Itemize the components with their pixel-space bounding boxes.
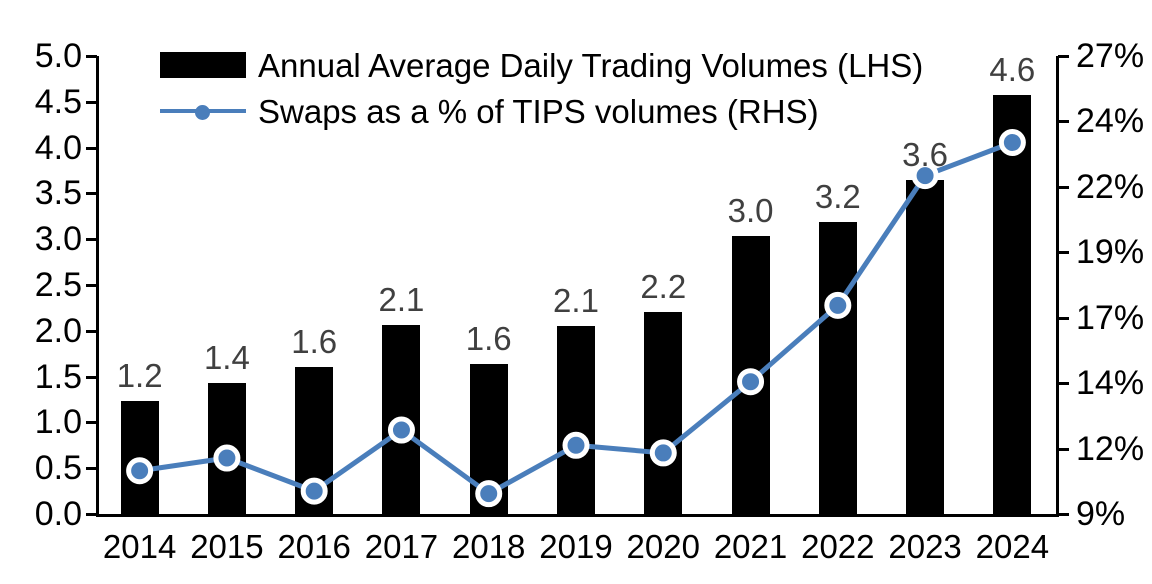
x-axis-tick-label: 2014: [96, 530, 183, 563]
x-axis-tick-label: 2017: [358, 530, 445, 563]
right-axis-tick-label: 17%: [1076, 301, 1144, 335]
bar-value-label: 4.6: [969, 53, 1056, 86]
x-axis-tick-label: 2020: [620, 530, 707, 563]
x-axis-tick-label: 2016: [271, 530, 358, 563]
line-marker[interactable]: [652, 442, 674, 464]
bar-value-label: 3.0: [707, 194, 794, 227]
x-axis-tick-label: 2022: [794, 530, 881, 563]
x-axis-tick-label: 2015: [183, 530, 270, 563]
chart-legend: Annual Average Daily Trading Volumes (LH…: [160, 42, 923, 134]
line-marker[interactable]: [827, 294, 849, 316]
x-axis-tick-label: 2018: [445, 530, 532, 563]
chart-container: 0.00.51.01.52.02.53.03.54.04.55.0 9%12%1…: [0, 0, 1152, 584]
line-marker[interactable]: [216, 447, 238, 469]
left-axis-tick-label: 3.0: [4, 222, 82, 256]
right-axis-tick: [1058, 251, 1069, 254]
bar-value-label: 3.2: [794, 180, 881, 213]
line-marker[interactable]: [129, 460, 151, 482]
right-axis-tick-label: 24%: [1076, 104, 1144, 138]
left-axis-tick-label: 4.0: [4, 131, 82, 165]
bar-value-label: 2.1: [532, 284, 619, 317]
left-axis-tick-label: 3.5: [4, 176, 82, 210]
right-axis-tick-label: 14%: [1076, 366, 1144, 400]
left-axis-tick-label: 2.0: [4, 314, 82, 348]
right-axis-tick: [1058, 317, 1069, 320]
left-axis-tick-label: 1.5: [4, 360, 82, 394]
bar-swatch-icon: [160, 52, 246, 78]
line-marker[interactable]: [565, 434, 587, 456]
bar-value-label: 1.2: [96, 359, 183, 392]
bar-value-label: 2.1: [358, 283, 445, 316]
left-axis-tick-label: 2.5: [4, 268, 82, 302]
right-axis-tick-label: 9%: [1076, 497, 1125, 531]
left-axis-tick-label: 0.0: [4, 497, 82, 531]
x-axis-tick-label: 2024: [969, 530, 1056, 563]
right-axis-tick-label: 19%: [1076, 235, 1144, 269]
line-marker[interactable]: [303, 480, 325, 502]
right-axis-tick: [1058, 186, 1069, 189]
bar-value-label: 1.4: [183, 341, 270, 374]
legend-item-line[interactable]: Swaps as a % of TIPS volumes (RHS): [160, 88, 923, 134]
x-axis-tick-label: 2023: [881, 530, 968, 563]
bar-value-label: 2.2: [620, 270, 707, 303]
left-axis-tick-label: 4.5: [4, 85, 82, 119]
right-axis-tick-label: 22%: [1076, 170, 1144, 204]
right-axis-tick: [1058, 513, 1069, 516]
bar-value-label: 1.6: [271, 325, 358, 358]
line-marker[interactable]: [390, 419, 412, 441]
right-axis-tick: [1058, 120, 1069, 123]
left-axis-tick-label: 1.0: [4, 405, 82, 439]
x-axis-tick-label: 2019: [532, 530, 619, 563]
right-axis-tick: [1058, 382, 1069, 385]
line-marker[interactable]: [1001, 132, 1023, 154]
right-axis-tick-label: 12%: [1076, 432, 1144, 466]
left-axis-tick-label: 5.0: [4, 39, 82, 73]
legend-item-bars[interactable]: Annual Average Daily Trading Volumes (LH…: [160, 42, 923, 88]
right-axis-tick-label: 27%: [1076, 39, 1144, 73]
right-axis-tick: [1058, 448, 1069, 451]
left-axis-tick-label: 0.5: [4, 451, 82, 485]
legend-label-line: Swaps as a % of TIPS volumes (RHS): [258, 95, 819, 128]
bar-value-label: 1.6: [445, 322, 532, 355]
line-marker[interactable]: [740, 371, 762, 393]
legend-label-bars: Annual Average Daily Trading Volumes (LH…: [258, 49, 923, 82]
x-axis-line: [96, 514, 1059, 517]
x-axis-tick-label: 2021: [707, 530, 794, 563]
line-marker-swatch-icon: [160, 98, 246, 124]
bar-value-label: 3.6: [881, 138, 968, 171]
right-axis-tick: [1058, 55, 1069, 58]
line-marker[interactable]: [478, 483, 500, 505]
